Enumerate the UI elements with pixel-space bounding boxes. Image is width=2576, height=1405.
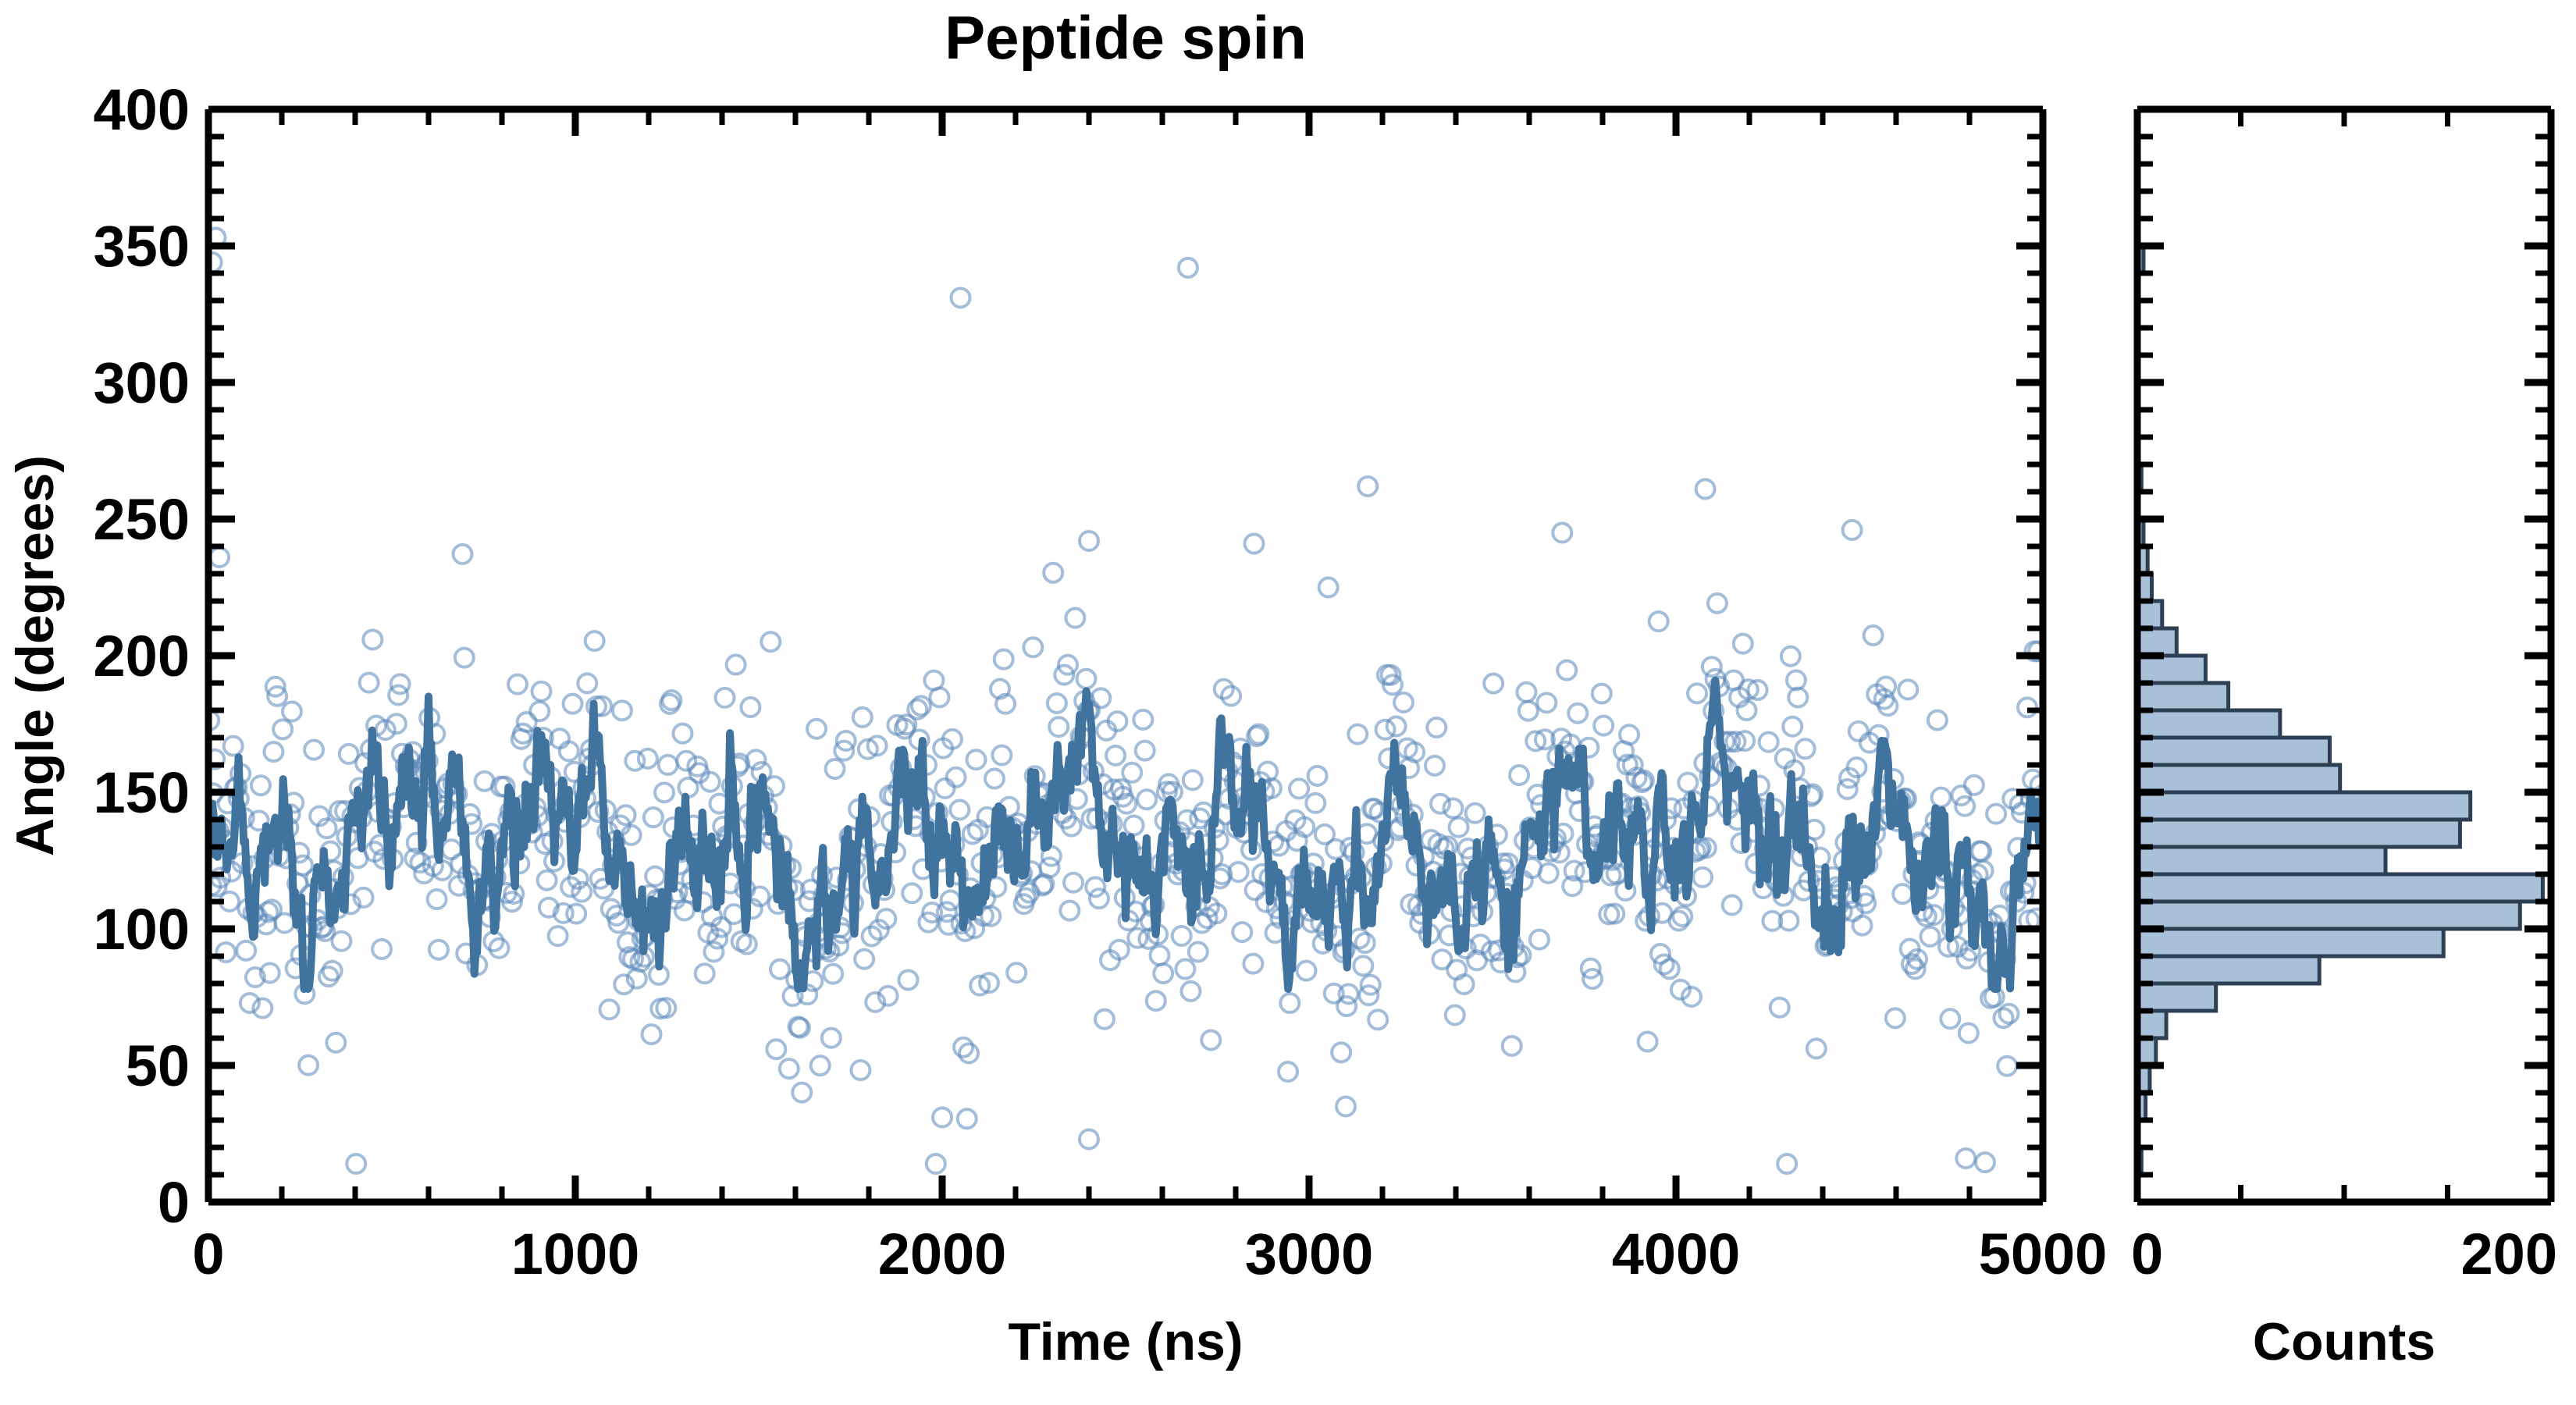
main-scatter-panel: 010002000300040005000 050100150200250300…: [5, 77, 2107, 1371]
histogram-bar: [2137, 847, 2386, 874]
x-tick-label: 2000: [878, 1222, 1007, 1286]
x-tick-label: 5000: [1979, 1222, 2108, 1286]
histogram-bar: [2137, 874, 2542, 902]
y-tick-label: 50: [126, 1033, 190, 1098]
histogram-bar: [2137, 983, 2216, 1011]
x-axis-label: Time (ns): [1008, 1312, 1243, 1371]
histogram-bar: [2137, 929, 2443, 956]
page-title: Peptide spin: [945, 3, 1307, 72]
x-tick-label: 4000: [1612, 1222, 1741, 1286]
counts-tick-label: 0: [2131, 1222, 2163, 1286]
histogram-bar: [2137, 956, 2319, 983]
histogram-bar: [2137, 628, 2176, 656]
histogram-bar: [2137, 1011, 2166, 1038]
histogram-bar: [2137, 710, 2280, 738]
histogram-bar: [2137, 792, 2471, 820]
histogram-bar: [2137, 902, 2520, 929]
y-tick-label: 350: [94, 214, 190, 279]
x-tick-label: 0: [192, 1222, 224, 1286]
histogram-bar: [2137, 738, 2329, 765]
counts-histogram-panel: 0200 Counts: [2131, 109, 2557, 1371]
figure-root: Peptide spin 010002000300040005000 05010…: [0, 0, 2576, 1405]
y-tick-label: 100: [94, 897, 190, 962]
y-tick-label: 400: [94, 77, 190, 142]
y-axis-label: Angle (degrees): [5, 455, 65, 856]
counts-axis-label: Counts: [2253, 1312, 2435, 1371]
x-tick-label: 1000: [511, 1222, 640, 1286]
y-tick-label: 200: [94, 624, 190, 688]
y-tick-label: 250: [94, 487, 190, 552]
main-plot-background: [208, 109, 2043, 1202]
y-tick-label: 150: [94, 760, 190, 825]
counts-tick-label: 200: [2461, 1222, 2557, 1286]
histogram-bar: [2137, 601, 2162, 628]
peptide-spin-figure: Peptide spin 010002000300040005000 05010…: [0, 0, 2576, 1405]
histogram-bar: [2137, 683, 2229, 710]
x-tick-label: 3000: [1245, 1222, 1374, 1286]
y-tick-label: 0: [158, 1170, 190, 1235]
histogram-bar: [2137, 820, 2460, 847]
histogram-bar: [2137, 765, 2340, 792]
y-tick-label: 300: [94, 350, 190, 415]
histogram-bar: [2137, 656, 2205, 683]
